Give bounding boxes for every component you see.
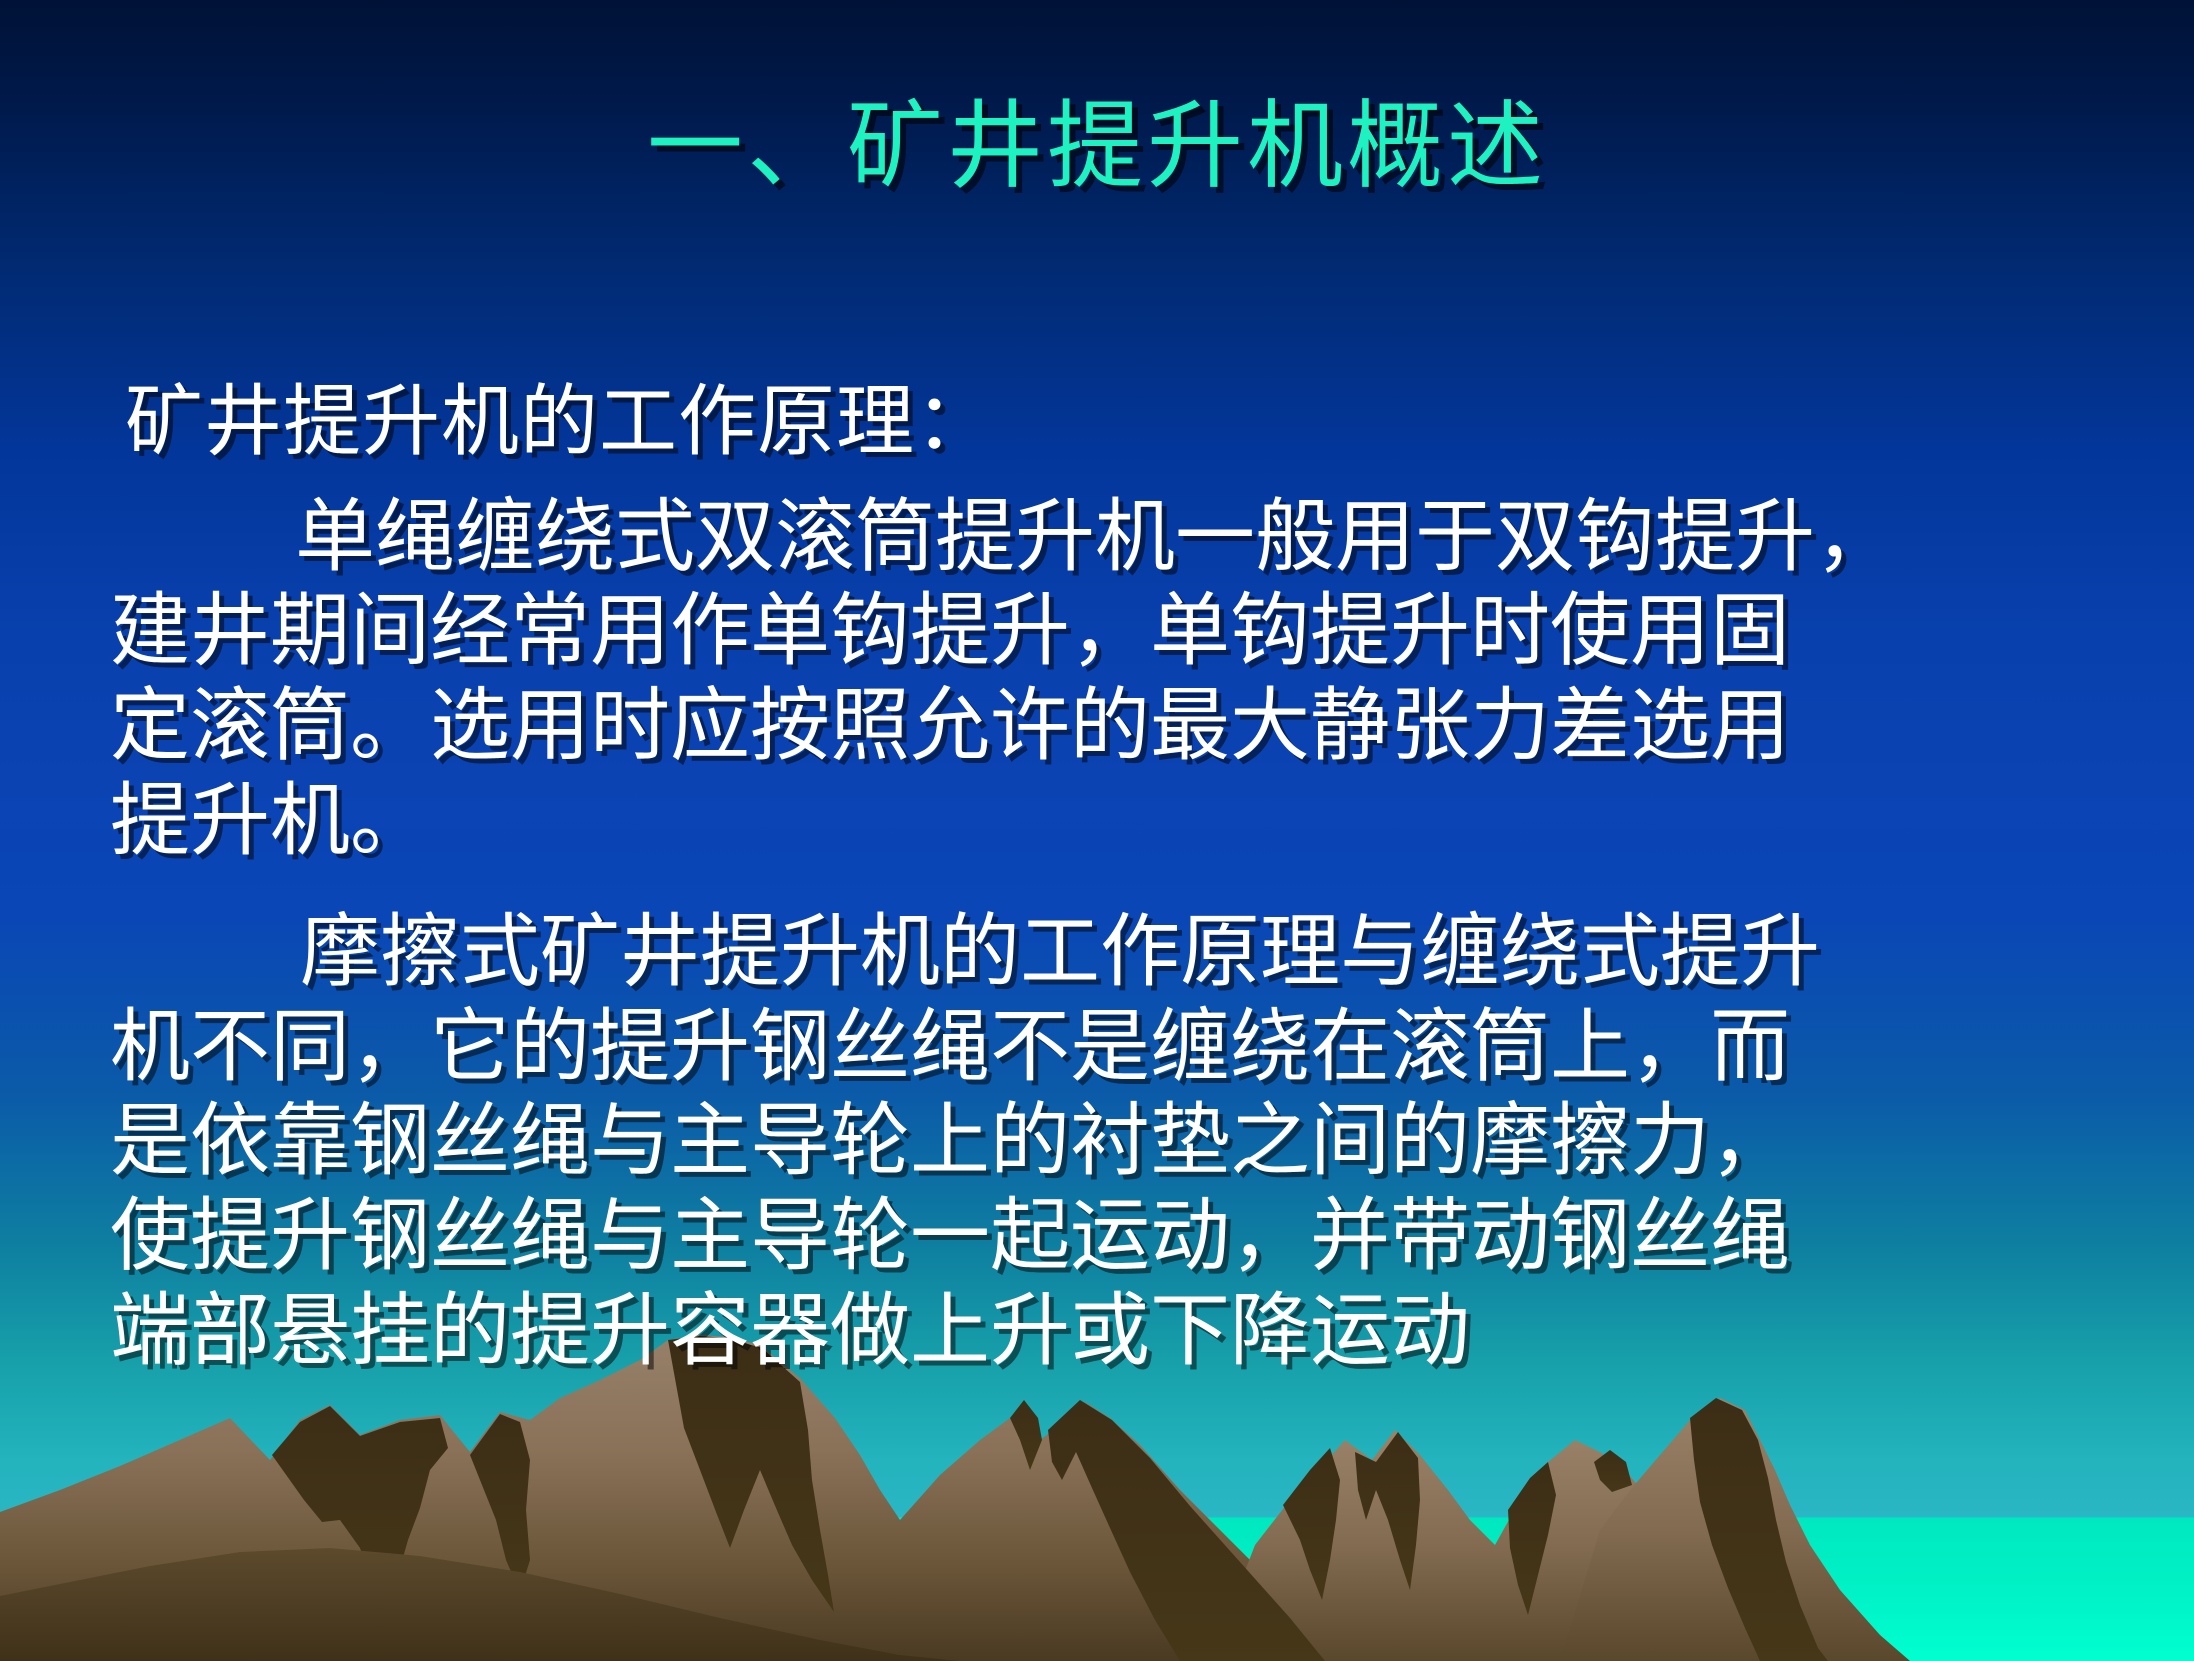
body-heading: 矿井提升机的工作原理： <box>125 378 2100 468</box>
page-title: 一、矿井提升机概述 <box>647 96 1547 197</box>
mountain-light-faces <box>0 1335 1910 1661</box>
paragraph-2-line-5: 端部悬挂的提升容器做上升或下降运动 <box>110 1284 2100 1379</box>
paragraph-1: 单绳缠绕式双滚筒提升机一般用于双钩提升， 建井期间经常用作单钩提升，单钩提升时使… <box>110 490 2100 869</box>
paragraph-1-line-1: 单绳缠绕式双滚筒提升机一般用于双钩提升， <box>110 490 2100 585</box>
paragraph-1-line-2: 建井期间经常用作单钩提升，单钩提升时使用固 <box>110 584 2100 679</box>
slide-body: 矿井提升机的工作原理： 单绳缠绕式双滚筒提升机一般用于双钩提升， 建井期间经常用… <box>110 378 2100 1379</box>
paragraph-2-line-2: 机不同，它的提升钢丝绳不是缠绕在滚筒上，而 <box>110 1000 2100 1095</box>
paragraph-2-line-4: 使提升钢丝绳与主导轮一起运动，并带动钢丝绳 <box>110 1189 2100 1284</box>
paragraph-2: 摩擦式矿井提升机的工作原理与缠绕式提升 机不同，它的提升钢丝绳不是缠绕在滚筒上，… <box>110 905 2100 1379</box>
presentation-slide: 一、矿井提升机概述 矿井提升机的工作原理： 单绳缠绕式双滚筒提升机一般用于双钩提… <box>0 0 2194 1661</box>
mountain-shadow-faces <box>0 1336 1828 1661</box>
slide-title-block: 一、矿井提升机概述 <box>0 96 2194 197</box>
paragraph-1-line-4: 提升机。 <box>110 774 2100 869</box>
paragraph-1-line-3: 定滚筒。选用时应按照允许的最大静张力差选用 <box>110 679 2100 774</box>
paragraph-2-line-3: 是依靠钢丝绳与主导轮上的衬垫之间的摩擦力， <box>110 1094 2100 1189</box>
paragraph-2-line-1: 摩擦式矿井提升机的工作原理与缠绕式提升 <box>110 905 2100 1000</box>
